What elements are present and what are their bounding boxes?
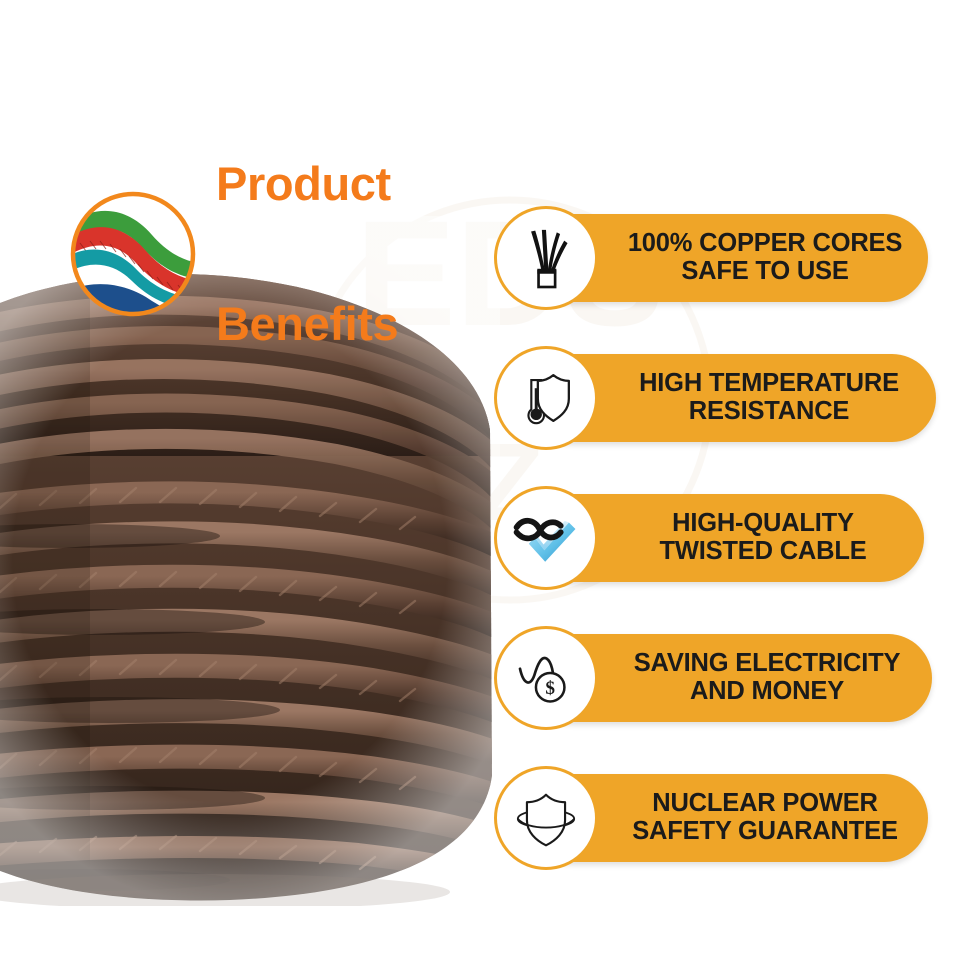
benefit-item-high-temperature[interactable]: HIGH TEMPERATURE RESISTANCE	[494, 346, 954, 450]
product-benefits-logo-mark	[66, 187, 200, 321]
benefits-list: 100% COPPER CORES SAFE TO USE HIGH	[494, 206, 954, 870]
benefit-item-twisted-cable[interactable]: HIGH-QUALITY TWISTED CABLE	[494, 486, 954, 590]
twisted-cable-check-icon	[494, 486, 598, 590]
stripped-cable-icon	[494, 206, 598, 310]
benefit-label: HIGH TEMPERATURE RESISTANCE	[624, 370, 914, 425]
benefit-label: HIGH-QUALITY TWISTED CABLE	[624, 510, 902, 565]
benefit-label: 100% COPPER CORES SAFE TO USE	[624, 230, 906, 285]
benefit-item-copper-cores[interactable]: 100% COPPER CORES SAFE TO USE	[494, 206, 954, 310]
benefit-label: NUCLEAR POWER SAFETY GUARANTEE	[624, 790, 906, 845]
svg-text:$: $	[545, 678, 555, 699]
benefit-item-nuclear-power-safety[interactable]: NUCLEAR POWER SAFETY GUARANTEE	[494, 766, 954, 870]
page-title-line2: Benefits	[216, 301, 398, 348]
page-title-line1: Product	[216, 161, 398, 208]
wave-dollar-coin-icon: $	[494, 626, 598, 730]
product-benefits-infographic: EDS Z	[0, 0, 960, 960]
page-title: Product Benefits	[216, 68, 398, 440]
thermometer-shield-icon	[494, 346, 598, 450]
benefit-label: SAVING ELECTRICITY AND MONEY	[624, 650, 910, 705]
shield-orbit-icon	[494, 766, 598, 870]
benefit-item-saving-electricity[interactable]: SAVING ELECTRICITY AND MONEY $	[494, 626, 954, 730]
logo-header: Product Benefits	[66, 68, 398, 440]
